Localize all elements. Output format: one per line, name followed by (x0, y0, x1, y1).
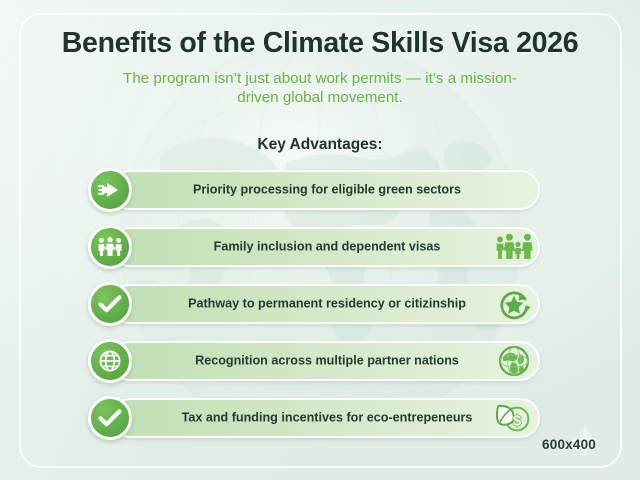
family-group-icon (494, 230, 534, 264)
benefit-text: Pathway to permanent residency or citizi… (170, 296, 484, 311)
star-refresh-icon (494, 287, 534, 321)
family-icon (88, 225, 132, 269)
section-label-key-advantages: Key Advantages: (0, 136, 640, 154)
benefits-list: Priority processing for eligible green s… (88, 168, 540, 453)
size-watermark: 600x400 (542, 437, 596, 452)
benefit-text: Recognition across multiple partner nati… (170, 353, 484, 368)
list-item[interactable]: Pathway to permanent residency or citizi… (88, 282, 540, 326)
globe-continents-icon (494, 344, 534, 378)
slide-subtitle: The program isn’t just about work permit… (110, 69, 530, 108)
slide-canvas: Benefits of the Climate Skills Visa 2026… (0, 0, 640, 480)
globe-icon (88, 339, 132, 383)
list-item[interactable]: Family inclusion and dependent visas (88, 225, 540, 269)
fast-arrow-icon (88, 168, 132, 212)
slide-header: Benefits of the Climate Skills Visa 2026… (0, 28, 640, 108)
benefit-text: Priority processing for eligible green s… (170, 182, 484, 197)
list-item[interactable]: Tax and funding incentives for eco-entre… (88, 396, 540, 440)
check-icon (88, 282, 132, 326)
leaf-dollar-icon: $ (494, 401, 534, 435)
list-item[interactable]: Recognition across multiple partner nati… (88, 339, 540, 383)
page-title: Benefits of the Climate Skills Visa 2026 (34, 28, 606, 60)
svg-text:$: $ (513, 413, 522, 430)
benefit-text: Family inclusion and dependent visas (170, 239, 484, 254)
list-item[interactable]: Priority processing for eligible green s… (88, 168, 540, 212)
check-icon (88, 396, 132, 440)
benefit-text: Tax and funding incentives for eco-entre… (170, 410, 484, 425)
